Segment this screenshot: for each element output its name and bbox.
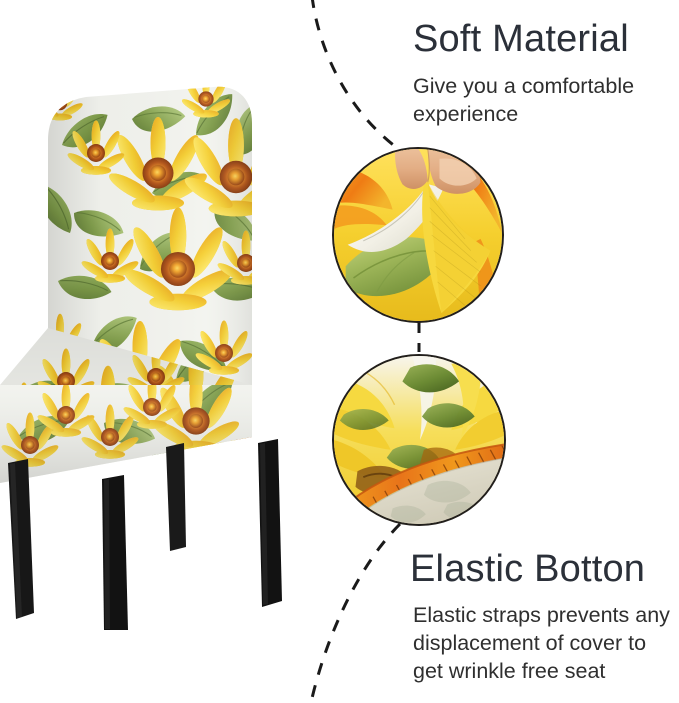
fabric-pinch-art bbox=[334, 149, 502, 321]
chair-illustration bbox=[0, 85, 330, 630]
feature-body-elastic-botton: Elastic straps prevents any displacement… bbox=[413, 601, 675, 685]
inset-fabric-pinch-closeup bbox=[332, 147, 504, 323]
chair-seat-skirt bbox=[0, 372, 270, 495]
feature-body-soft-material: Give you a comfortable experience bbox=[413, 72, 675, 128]
chair-product-image bbox=[0, 85, 330, 630]
inset-elastic-hem-closeup bbox=[332, 354, 506, 526]
elastic-hem-art bbox=[334, 356, 504, 524]
feature-heading-elastic-botton: Elastic Botton bbox=[410, 548, 645, 590]
product-infographic: Soft Material Give you a comfortable exp… bbox=[0, 0, 679, 703]
feature-heading-soft-material: Soft Material bbox=[413, 18, 629, 60]
fingers bbox=[395, 149, 481, 194]
